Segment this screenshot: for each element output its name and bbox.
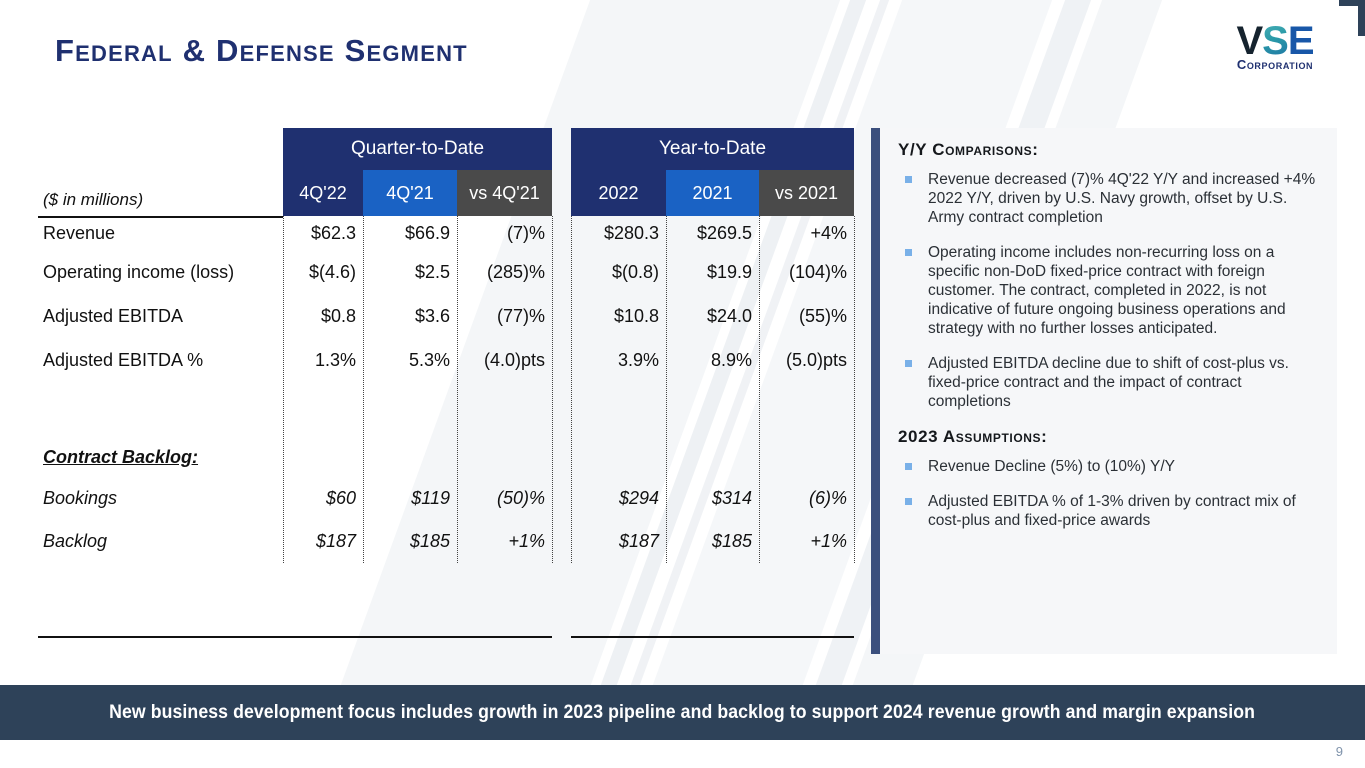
row-label: Adjusted EBITDA (38, 306, 283, 327)
col-header-4q21: 4Q'21 (363, 170, 457, 216)
row-label: Backlog (38, 531, 283, 552)
corner-bracket-decoration (1339, 0, 1365, 36)
divider-qtd-end (552, 216, 553, 563)
assumptions-list: Revenue Decline (5%) to (10%) Y/Y Adjust… (898, 457, 1321, 530)
list-item-text: Revenue Decline (5%) to (10%) Y/Y (928, 458, 1175, 475)
list-item-text: Adjusted EBITDA % of 1-3% driven by cont… (928, 493, 1296, 529)
cell-4q21: $119 (363, 488, 457, 509)
yy-comparisons-list: Revenue decreased (7)% 4Q'22 Y/Y and inc… (898, 170, 1321, 411)
list-item: Operating income includes non-recurring … (898, 243, 1321, 338)
cell-4q21: $185 (363, 531, 457, 552)
col-header-4q22: 4Q'22 (283, 170, 363, 216)
bullet-square-icon (905, 463, 912, 470)
divider-4q21-vs (457, 216, 458, 563)
row-label: Adjusted EBITDA % (38, 350, 283, 371)
table-body: Revenue $62.3 $66.9 (7)% $280.3 $269.5 +… (38, 216, 858, 563)
divider-ytd-start (571, 216, 572, 563)
cell-4q21: 5.3% (363, 350, 457, 371)
cell-4q21: $2.5 (363, 262, 457, 283)
divider-2022-2021 (666, 216, 667, 563)
table-row: Revenue $62.3 $66.9 (7)% $280.3 $269.5 +… (38, 216, 858, 251)
cell-vs-2021: +4% (759, 223, 854, 244)
cell-4q22: $60 (283, 488, 363, 509)
cell-vs-4q21: (50)% (457, 488, 552, 509)
cell-4q21: $66.9 (363, 223, 457, 244)
list-item-text: Adjusted EBITDA decline due to shift of … (928, 355, 1289, 410)
table-row-spacer (38, 382, 858, 437)
cell-4q22: 1.3% (283, 350, 363, 371)
table-group-header-row: Quarter-to-Date Year-to-Date (283, 128, 858, 170)
cell-2022: $(0.8) (571, 262, 666, 283)
col-header-vs-2021: vs 2021 (759, 170, 854, 216)
bottom-banner-text: New business development focus includes … (110, 702, 1256, 724)
bullet-square-icon (905, 498, 912, 505)
cell-vs-4q21: +1% (457, 531, 552, 552)
cell-4q22: $187 (283, 531, 363, 552)
table-row: Backlog $187 $185 +1% $187 $185 +1% (38, 520, 858, 563)
backlog-section-header-row: Contract Backlog: (38, 437, 858, 477)
list-item: Revenue Decline (5%) to (10%) Y/Y (898, 457, 1321, 476)
cell-2022: 3.9% (571, 350, 666, 371)
page-number: 9 (1336, 744, 1343, 759)
cell-2021: $269.5 (666, 223, 759, 244)
cell-vs-4q21: (285)% (457, 262, 552, 283)
cell-2022: $187 (571, 531, 666, 552)
cell-vs-2021: (6)% (759, 488, 854, 509)
panel-heading-2023-assumptions: 2023 Assumptions: (898, 427, 1321, 447)
logo-subtitle: Corporation (1215, 57, 1335, 72)
vse-logo: VSE Corporation (1215, 22, 1335, 72)
table-bottom-border-ytd (571, 636, 854, 638)
list-item-text: Operating income includes non-recurring … (928, 244, 1286, 337)
list-item: Adjusted EBITDA decline due to shift of … (898, 354, 1321, 411)
cell-4q22: $0.8 (283, 306, 363, 327)
col-header-spacer (552, 170, 571, 216)
divider-ytd-end (854, 216, 855, 563)
col-header-2021: 2021 (666, 170, 759, 216)
group-header-ytd: Year-to-Date (571, 128, 854, 170)
backlog-section-header: Contract Backlog: (38, 447, 283, 468)
list-item: Adjusted EBITDA % of 1-3% driven by cont… (898, 492, 1321, 530)
slide-root: Federal & Defense Segment VSE Corporatio… (0, 0, 1365, 768)
table-bottom-border-qtd (38, 636, 552, 638)
table-row: Bookings $60 $119 (50)% $294 $314 (6)% (38, 477, 858, 520)
cell-4q22: $62.3 (283, 223, 363, 244)
table-row: Adjusted EBITDA $0.8 $3.6 (77)% $10.8 $2… (38, 294, 858, 338)
bullet-square-icon (905, 360, 912, 367)
col-header-vs-4q21: vs 4Q'21 (457, 170, 552, 216)
bullet-square-icon (905, 249, 912, 256)
row-label: Bookings (38, 488, 283, 509)
units-underline (38, 216, 283, 218)
cell-vs-2021: +1% (759, 531, 854, 552)
cell-vs-4q21: (7)% (457, 223, 552, 244)
cell-2021: $24.0 (666, 306, 759, 327)
table-column-header-row: 4Q'22 4Q'21 vs 4Q'21 2022 2021 vs 2021 (283, 170, 858, 216)
panel-heading-yy-comparisons: Y/Y Comparisons: (898, 140, 1321, 160)
list-item-text: Revenue decreased (7)% 4Q'22 Y/Y and inc… (928, 171, 1315, 226)
commentary-panel: Y/Y Comparisons: Revenue decreased (7)% … (871, 128, 1337, 654)
logo-wordmark: VSE (1215, 22, 1335, 60)
cell-2021: $19.9 (666, 262, 759, 283)
cell-2021: $314 (666, 488, 759, 509)
divider-2021-vs (759, 216, 760, 563)
cell-2022: $294 (571, 488, 666, 509)
cell-2021: 8.9% (666, 350, 759, 371)
cell-vs-4q21: (77)% (457, 306, 552, 327)
cell-2022: $280.3 (571, 223, 666, 244)
cell-vs-4q21: (4.0)pts (457, 350, 552, 371)
page-title: Federal & Defense Segment (55, 33, 468, 69)
group-header-qtd: Quarter-to-Date (283, 128, 552, 170)
table-row: Operating income (loss) $(4.6) $2.5 (285… (38, 251, 858, 294)
financial-table: ($ in millions) Quarter-to-Date Year-to-… (38, 128, 858, 563)
group-header-spacer (552, 128, 571, 170)
col-header-2022: 2022 (571, 170, 666, 216)
cell-4q22: $(4.6) (283, 262, 363, 283)
cell-2021: $185 (666, 531, 759, 552)
units-label: ($ in millions) (38, 190, 143, 216)
cell-vs-2021: (104)% (759, 262, 854, 283)
bottom-banner: New business development focus includes … (0, 685, 1365, 740)
cell-vs-2021: (55)% (759, 306, 854, 327)
cell-2022: $10.8 (571, 306, 666, 327)
divider-label-qtd (283, 216, 284, 563)
table-row: Adjusted EBITDA % 1.3% 5.3% (4.0)pts 3.9… (38, 338, 858, 382)
divider-4q22-4q21 (363, 216, 364, 563)
row-label: Operating income (loss) (38, 262, 283, 283)
cell-vs-2021: (5.0)pts (759, 350, 854, 371)
bullet-square-icon (905, 176, 912, 183)
row-label: Revenue (38, 223, 283, 244)
list-item: Revenue decreased (7)% 4Q'22 Y/Y and inc… (898, 170, 1321, 227)
units-label-cell: ($ in millions) (38, 170, 283, 216)
cell-4q21: $3.6 (363, 306, 457, 327)
